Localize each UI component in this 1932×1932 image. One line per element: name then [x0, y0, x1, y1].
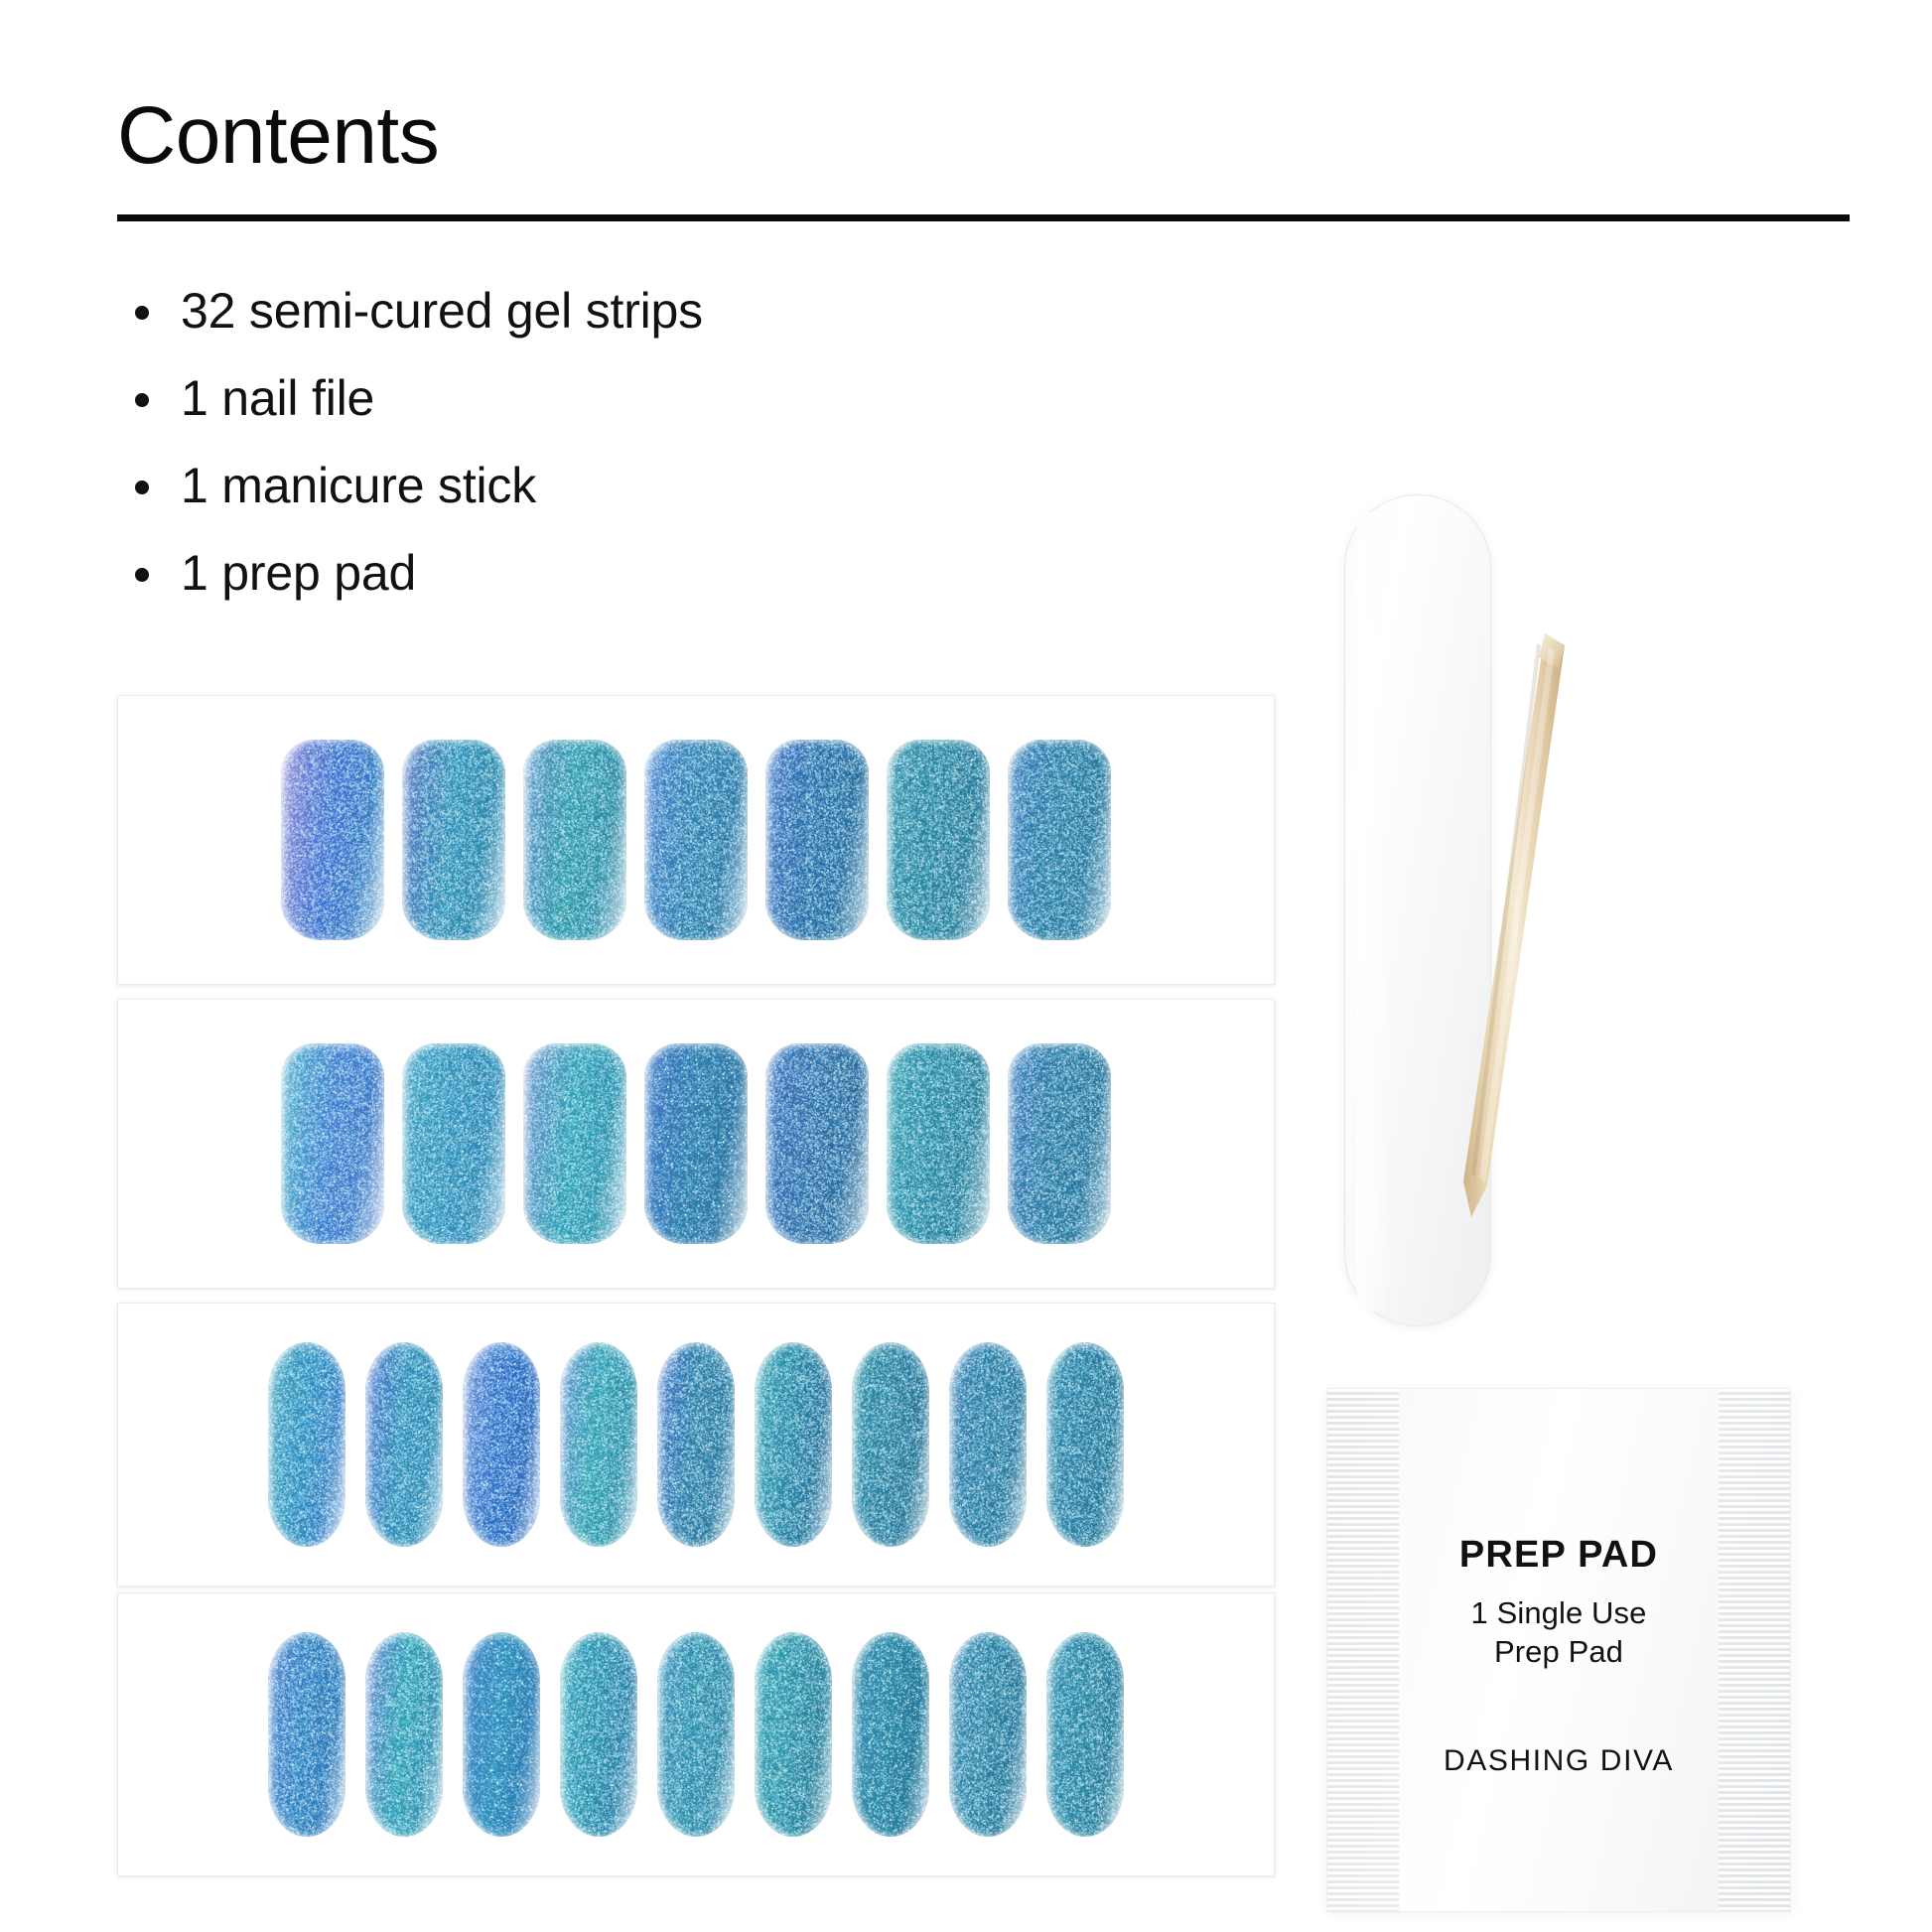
nail-strip: [463, 1632, 540, 1837]
bullet-icon: [135, 481, 149, 494]
nail-rim: [281, 740, 384, 940]
content-list-item: 1 nail file: [117, 373, 1110, 423]
nail-strip: [1046, 1632, 1124, 1837]
nail-rim: [1046, 1342, 1124, 1547]
nail-strip: [765, 740, 869, 940]
nail-strip: [887, 1043, 990, 1244]
nail-strip: [852, 1632, 929, 1837]
page-title: Contents: [117, 95, 1850, 177]
nail-strip: [755, 1632, 832, 1837]
nail-rim: [1046, 1632, 1124, 1837]
title-divider: [117, 214, 1850, 221]
nail-strip: [523, 740, 626, 940]
nail-strip: [281, 1043, 384, 1244]
nail-rim: [949, 1342, 1027, 1547]
nail-rim: [402, 1043, 505, 1244]
bullet-icon: [135, 306, 149, 320]
nail-strip: [887, 740, 990, 940]
nail-strip: [852, 1342, 929, 1547]
nail-rim: [755, 1632, 832, 1837]
contents-list: 32 semi-cured gel strips1 nail file1 man…: [117, 286, 1110, 635]
nail-strip: [560, 1632, 637, 1837]
prep-pad-title: PREP PAD: [1399, 1536, 1719, 1574]
nail-strip: [281, 740, 384, 940]
content-list-item-label: 32 semi-cured gel strips: [181, 283, 703, 339]
strip-sheet-3: [118, 1304, 1274, 1586]
nail-strip-sheet-1: [117, 695, 1275, 985]
nail-rim: [463, 1342, 540, 1547]
nail-strip: [949, 1632, 1027, 1837]
nail-strip: [523, 1043, 626, 1244]
nail-strip: [1046, 1342, 1124, 1547]
nail-rim: [523, 740, 626, 940]
nail-rim: [887, 740, 990, 940]
nail-strip: [755, 1342, 832, 1547]
bullet-icon: [135, 393, 149, 407]
content-list-item: 1 prep pad: [117, 548, 1110, 598]
nail-strip-sheet-4: [117, 1592, 1275, 1876]
header: Contents: [117, 95, 1850, 221]
nail-rim: [365, 1342, 443, 1547]
nail-strip: [1008, 740, 1111, 940]
nail-rim: [268, 1632, 345, 1837]
product-contents-page: Contents 32 semi-cured gel strips1 nail …: [0, 0, 1932, 1932]
nail-strip: [402, 1043, 505, 1244]
content-list-item: 1 manicure stick: [117, 461, 1110, 510]
nail-strip-sheet-2: [117, 999, 1275, 1289]
nail-rim: [560, 1632, 637, 1837]
nail-strip: [949, 1342, 1027, 1547]
nail-strip: [644, 740, 748, 940]
nail-rim: [463, 1632, 540, 1837]
strip-sheet-2: [118, 1000, 1274, 1288]
strip-sheet-4: [118, 1593, 1274, 1875]
nail-rim: [523, 1043, 626, 1244]
nail-strip-sheet-3: [117, 1303, 1275, 1587]
content-list-item: 32 semi-cured gel strips: [117, 286, 1110, 336]
prep-pad-subtitle-line2: Prep Pad: [1399, 1632, 1719, 1671]
manicure-stick: [1442, 629, 1571, 1229]
nail-strip: [560, 1342, 637, 1547]
nail-rim: [365, 1632, 443, 1837]
nail-rim: [560, 1342, 637, 1547]
prep-pad-subtitle-line1: 1 Single Use: [1399, 1593, 1719, 1632]
nail-rim: [852, 1342, 929, 1547]
nail-strip: [268, 1342, 345, 1547]
nail-strip: [268, 1632, 345, 1837]
nail-rim: [765, 1043, 869, 1244]
strip-sheet-1: [118, 696, 1274, 984]
nail-rim: [657, 1632, 735, 1837]
nail-strip: [765, 1043, 869, 1244]
prep-pad-subtitle: 1 Single Use Prep Pad: [1399, 1593, 1719, 1671]
nail-strip: [463, 1342, 540, 1547]
content-list-item-label: 1 prep pad: [181, 545, 416, 601]
nail-rim: [657, 1342, 735, 1547]
nail-rim: [644, 740, 748, 940]
nail-strip: [365, 1632, 443, 1837]
nail-strip: [657, 1632, 735, 1837]
nail-strip: [1008, 1043, 1111, 1244]
prep-pad-seal-left: [1327, 1389, 1399, 1911]
brand-logo-text: DASHING DIVA: [1399, 1744, 1719, 1778]
nail-rim: [949, 1632, 1027, 1837]
prep-pad-packet: PREP PAD 1 Single Use Prep Pad DASHING D…: [1326, 1388, 1791, 1912]
nail-file-sheen: [1357, 511, 1391, 1311]
prep-pad-label: PREP PAD 1 Single Use Prep Pad DASHING D…: [1399, 1536, 1719, 1778]
bullet-icon: [135, 568, 149, 582]
nail-rim: [281, 1043, 384, 1244]
nail-rim: [402, 740, 505, 940]
nail-strip: [644, 1043, 748, 1244]
nail-strip: [657, 1342, 735, 1547]
nail-rim: [755, 1342, 832, 1547]
nail-strip: [402, 740, 505, 940]
content-list-item-label: 1 manicure stick: [181, 458, 536, 513]
prep-pad-seal-right: [1719, 1389, 1790, 1911]
content-list-item-label: 1 nail file: [181, 370, 374, 426]
nail-rim: [1008, 1043, 1111, 1244]
nail-rim: [765, 740, 869, 940]
nail-rim: [268, 1342, 345, 1547]
nail-rim: [887, 1043, 990, 1244]
nail-rim: [1008, 740, 1111, 940]
nail-strip: [365, 1342, 443, 1547]
nail-rim: [644, 1043, 748, 1244]
nail-rim: [852, 1632, 929, 1837]
